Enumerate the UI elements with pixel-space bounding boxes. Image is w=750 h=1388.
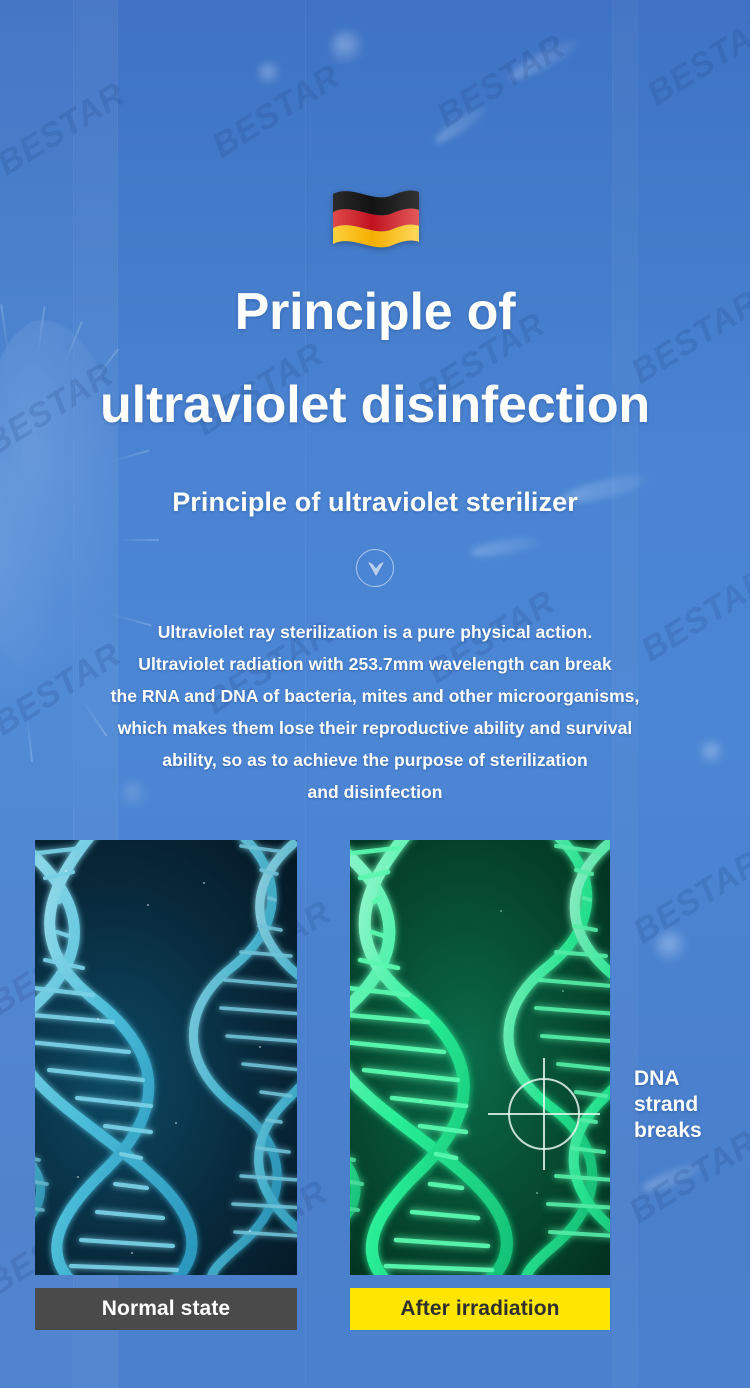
caption-after-irradiation: After irradiation: [350, 1288, 610, 1330]
dna-helix-irradiated-image: [350, 840, 610, 1275]
chevron-down-circle-icon: [356, 549, 394, 587]
page-title-line-2: ultraviolet disinfection: [0, 359, 750, 452]
caption-label: Normal state: [102, 1297, 230, 1321]
chevron-down-icon: [366, 560, 386, 578]
paragraph-line: the RNA and DNA of bacteria, mites and o…: [0, 680, 750, 712]
dna-strand-breaks-annotation: DNA strand breaks: [634, 1066, 702, 1144]
page-title-line-1: Principle of: [235, 283, 516, 341]
promo-page: BESTAR BESTAR BESTAR BESTAR BESTAR BESTA…: [0, 0, 750, 1388]
paragraph-line: and disinfection: [0, 776, 750, 808]
dna-helix-normal-image: [35, 840, 297, 1275]
watermark-text: BESTAR: [431, 27, 573, 136]
german-flag-icon: [0, 182, 750, 248]
section-divider: [0, 549, 750, 592]
paragraph-line: Ultraviolet radiation with 253.7mm wavel…: [0, 648, 750, 680]
annotation-line: DNA: [634, 1066, 702, 1092]
dna-helix-blue-svg: [35, 840, 297, 1275]
dna-helix-green-svg: [350, 840, 610, 1275]
caption-label: After irradiation: [400, 1297, 559, 1321]
watermark-text: BESTAR: [0, 75, 133, 184]
page-title: Principle of ultraviolet disinfection: [0, 266, 750, 452]
paragraph-line: Ultraviolet ray sterilization is a pure …: [0, 616, 750, 648]
paragraph-line: ability, so as to achieve the purpose of…: [0, 744, 750, 776]
description-paragraph: Ultraviolet ray sterilization is a pure …: [0, 616, 750, 808]
annotation-line: strand: [634, 1092, 702, 1118]
caption-normal-state: Normal state: [35, 1288, 297, 1330]
annotation-line: breaks: [634, 1118, 702, 1144]
watermark-text: BESTAR: [206, 57, 348, 166]
paragraph-line: which makes them lose their reproductive…: [0, 712, 750, 744]
page-subtitle: Principle of ultraviolet sterilizer: [0, 487, 750, 518]
german-flag-svg: [325, 182, 425, 248]
watermark-text: BESTAR: [627, 843, 750, 952]
watermark-text: BESTAR: [641, 5, 750, 114]
